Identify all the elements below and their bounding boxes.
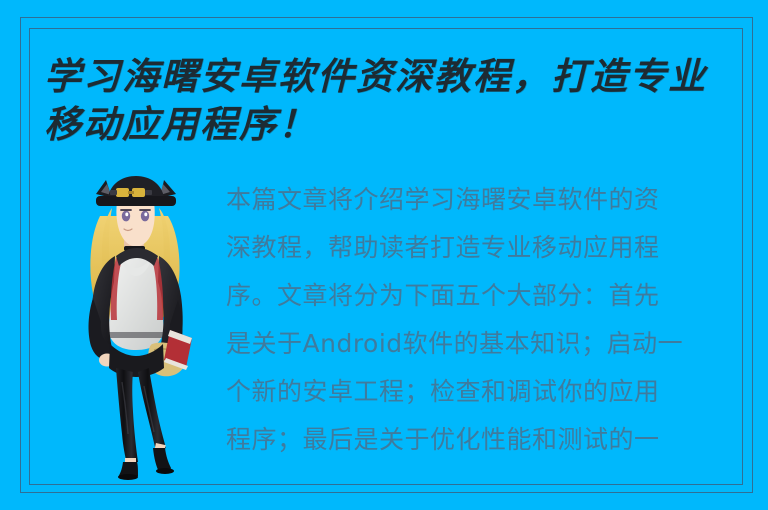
body-line: 序。文章将分为下面五个大部分：首先 — [226, 272, 734, 320]
body-line: 程序；最后是关于优化性能和测试的一 — [226, 416, 734, 464]
anime-girl-character-illustration — [60, 172, 212, 480]
article-banner: 学习海曙安卓软件资深教程，打造专业移动应用程序！ — [0, 0, 768, 510]
body-line: 是关于Android软件的基本知识；启动一 — [226, 320, 734, 368]
body-line: 本篇文章将介绍学习海曙安卓软件的资 — [226, 176, 734, 224]
banner-title: 学习海曙安卓软件资深教程，打造专业移动应用程序！ — [44, 52, 744, 148]
body-line: 深教程，帮助读者打造专业移动应用程 — [226, 224, 734, 272]
body-line: 个新的安卓工程；检查和调试你的应用 — [226, 368, 734, 416]
banner-body-text: 本篇文章将介绍学习海曙安卓软件的资 深教程，帮助读者打造专业移动应用程 序。文章… — [226, 176, 734, 464]
